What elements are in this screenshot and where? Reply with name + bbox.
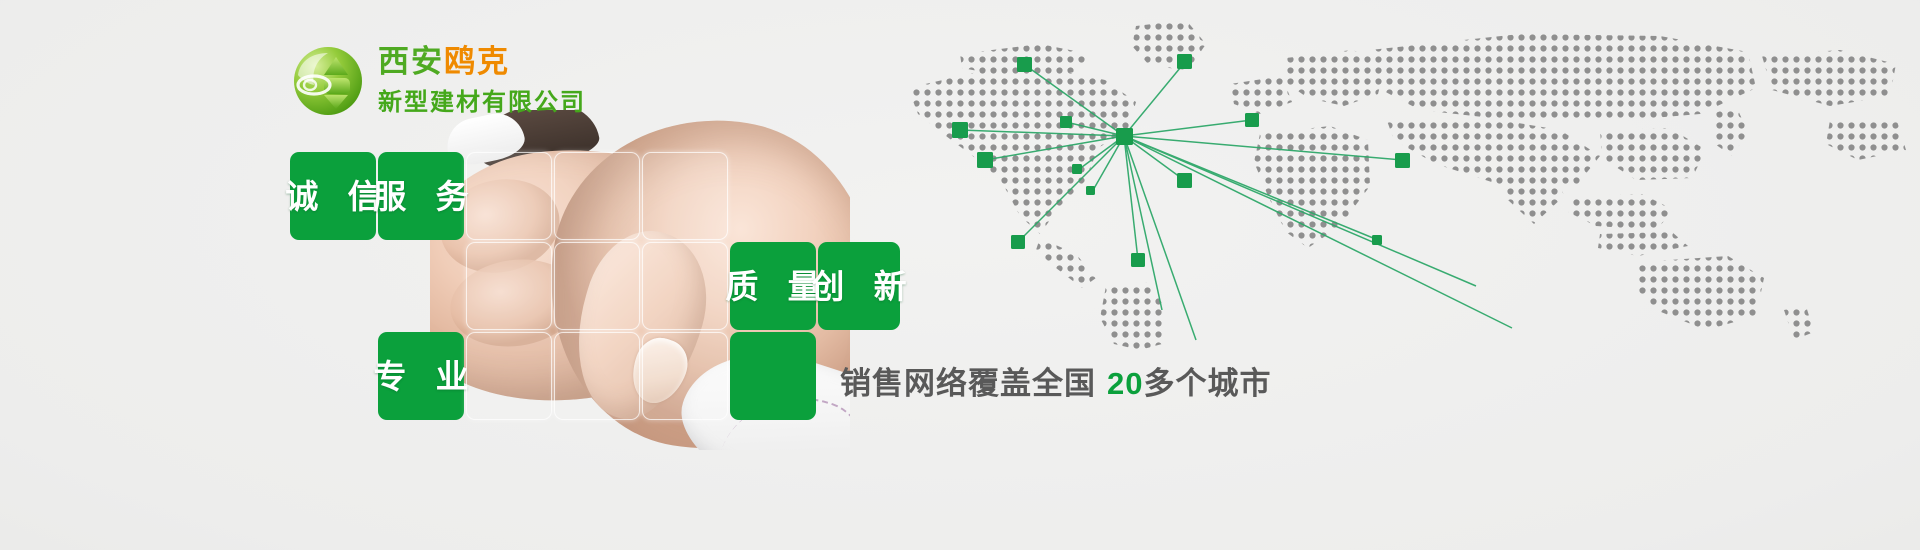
value-tile-blank-r3c3[interactable] [466, 332, 552, 420]
logo-line-one: 西安鸥克 [378, 45, 586, 79]
value-tile-blank-r3c5[interactable] [642, 332, 728, 420]
globe-leaf-logo-icon [292, 45, 364, 117]
value-tile-blank-r3c6[interactable] [730, 332, 816, 420]
company-logo[interactable]: 西安鸥克 新型建材有限公司 [292, 45, 586, 117]
logo-city: 西安 [378, 44, 444, 79]
tagline-prefix: 销售网络覆盖全国 [840, 366, 1096, 401]
tagline-suffix: 多个城市 [1143, 366, 1271, 401]
value-tile-service-label: 服 务 [363, 180, 478, 213]
value-tile-blank-r2c4[interactable] [554, 242, 640, 330]
sales-network-tagline: 销售网络覆盖全国20多个城市 [840, 358, 1271, 403]
value-tile-grid: 诚 信 服 务 质 量 创 新 专 业 [0, 0, 1920, 550]
value-tile-blank-r1c4[interactable] [554, 152, 640, 240]
logo-text: 西安鸥克 新型建材有限公司 [378, 45, 586, 117]
value-tile-innovation[interactable]: 创 新 [818, 242, 900, 330]
value-tile-innovation-label: 创 新 [801, 270, 916, 303]
value-tile-blank-r1c5[interactable] [642, 152, 728, 240]
value-tile-professional[interactable]: 专 业 [378, 332, 464, 420]
value-tile-service[interactable]: 服 务 [378, 152, 464, 240]
tagline-number: 20 [1107, 366, 1143, 401]
value-tile-blank-r1c3[interactable] [466, 152, 552, 240]
value-tile-professional-label: 专 业 [363, 360, 478, 393]
logo-line-two: 新型建材有限公司 [378, 82, 586, 117]
promo-banner: 诚 信 服 务 质 量 创 新 专 业 [0, 0, 1920, 550]
value-tile-blank-r3c4[interactable] [554, 332, 640, 420]
value-tile-blank-r2c3[interactable] [466, 242, 552, 330]
logo-brand: 鸥克 [444, 44, 510, 79]
